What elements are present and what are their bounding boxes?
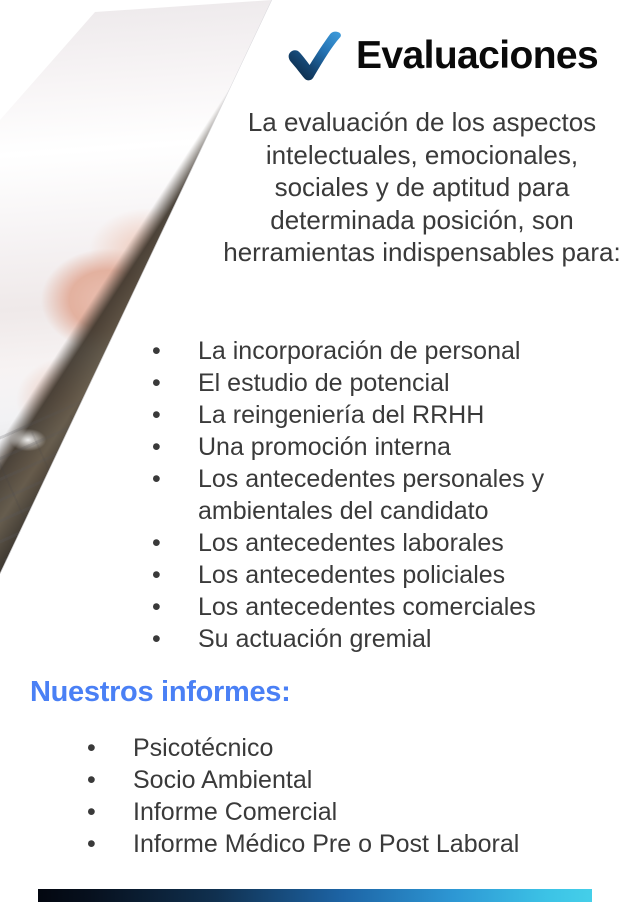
list-item: •Informe Comercial (87, 796, 632, 828)
reports-bullet-list: •Psicotécnico •Socio Ambiental •Informe … (87, 732, 632, 860)
list-item-label: Los antecedentes policiales (198, 559, 632, 591)
list-item: •Psicotécnico (87, 732, 632, 764)
list-item: •Una promoción interna (152, 431, 632, 463)
intro-paragraph: La evaluación de los aspectos intelectua… (222, 106, 622, 269)
list-item-label: Los antecedentes personales y ambientale… (198, 463, 632, 527)
list-item: •Los antecedentes comerciales (152, 591, 632, 623)
blue-checkmark-icon (288, 29, 342, 81)
slide-root: Evaluaciones La evaluación de los aspect… (0, 0, 632, 921)
list-item-label: Psicotécnico (133, 732, 632, 764)
bullet-glyph: • (152, 463, 198, 495)
list-item-label: Los antecedentes comerciales (198, 591, 632, 623)
bullet-glyph: • (152, 399, 198, 431)
list-item: •Los antecedentes personales y ambiental… (152, 463, 632, 527)
bullet-glyph: • (152, 527, 198, 559)
bullet-glyph: • (152, 367, 198, 399)
list-item-label: Los antecedentes laborales (198, 527, 632, 559)
bottom-gradient-bar (38, 889, 592, 902)
bullet-glyph: • (152, 335, 198, 367)
main-bullet-list: •La incorporación de personal •El estudi… (152, 335, 632, 655)
list-item-label: La incorporación de personal (198, 335, 632, 367)
list-item: •Socio Ambiental (87, 764, 632, 796)
list-item: •Informe Médico Pre o Post Laboral (87, 828, 632, 860)
list-item: •El estudio de potencial (152, 367, 632, 399)
bullet-glyph: • (152, 431, 198, 463)
bullet-glyph: • (87, 732, 133, 764)
list-item-label: Socio Ambiental (133, 764, 632, 796)
list-item-label: Informe Médico Pre o Post Laboral (133, 828, 632, 860)
list-item: •La incorporación de personal (152, 335, 632, 367)
list-item: •Su actuación gremial (152, 623, 632, 655)
bullet-glyph: • (87, 796, 133, 828)
list-item-label: El estudio de potencial (198, 367, 632, 399)
list-item-label: Una promoción interna (198, 431, 632, 463)
list-item-label: Informe Comercial (133, 796, 632, 828)
list-item: •Los antecedentes laborales (152, 527, 632, 559)
list-item: •Los antecedentes policiales (152, 559, 632, 591)
list-item-label: La reingeniería del RRHH (198, 399, 632, 431)
bullet-glyph: • (152, 559, 198, 591)
bullet-glyph: • (87, 764, 133, 796)
list-item-label: Su actuación gremial (198, 623, 632, 655)
list-item: •La reingeniería del RRHH (152, 399, 632, 431)
bullet-glyph: • (152, 623, 198, 655)
page-title: Evaluaciones (356, 36, 598, 75)
bullet-glyph: • (87, 828, 133, 860)
slide-header: Evaluaciones (288, 24, 618, 86)
bullet-glyph: • (152, 591, 198, 623)
reports-heading: Nuestros informes: (30, 678, 291, 707)
